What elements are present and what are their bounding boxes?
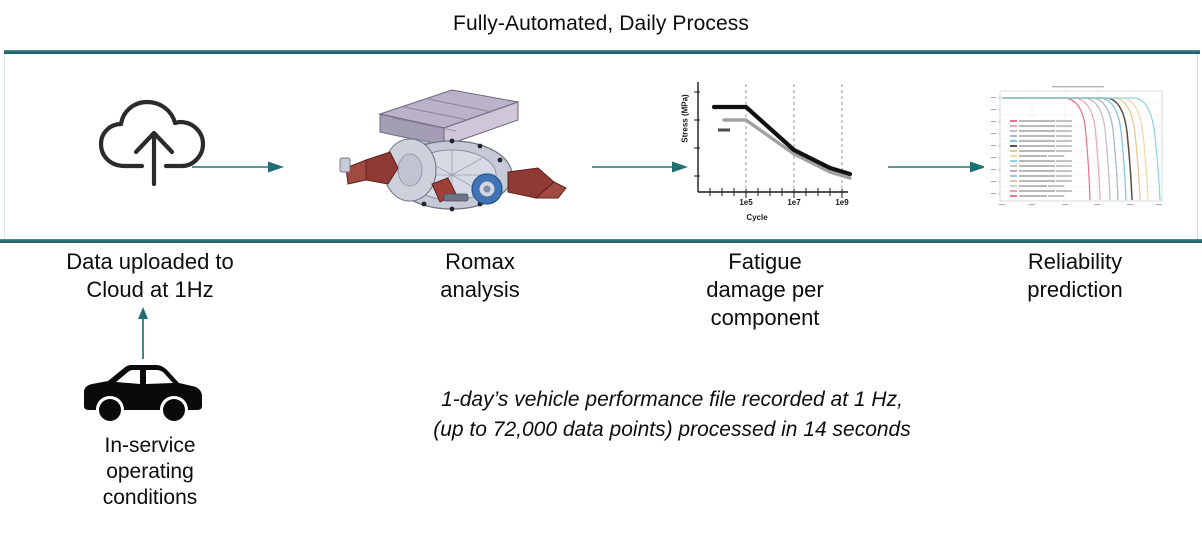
caption-fatigue-line3: component: [640, 304, 890, 332]
caption-fatigue-line2: damage per: [640, 276, 890, 304]
caption-fatigue-line1: Fatigue: [640, 248, 890, 276]
caption-fatigue: Fatigue damage per component: [640, 248, 890, 332]
gearbox-cad-image: [332, 72, 572, 222]
caption-upload-line1: Data uploaded to: [10, 248, 290, 276]
step-upload: [40, 54, 270, 239]
caption-reliability-line1: Reliability: [950, 248, 1200, 276]
car-icon: [78, 362, 206, 424]
divider-bottom: [0, 239, 1202, 243]
caption-source: In-service operating conditions: [30, 433, 270, 511]
footnote-line2: (up to 72,000 data points) processed in …: [322, 415, 1022, 445]
sn-curve-chart: Stress (MPa): [662, 72, 852, 222]
step-fatigue: Stress (MPa): [652, 54, 862, 239]
legend-item: [1010, 194, 1072, 199]
sn-xtick-2: 1e7: [787, 198, 800, 207]
sn-xtick-3: 1e9: [835, 198, 848, 207]
sn-curve-xlabel: Cycle: [662, 213, 852, 222]
reliability-legend: [1010, 119, 1072, 199]
page-title: Fully-Automated, Daily Process: [0, 12, 1202, 36]
caption-upload-line2: Cloud at 1Hz: [10, 276, 290, 304]
footnote-line1: 1-day’s vehicle performance file recorde…: [322, 385, 1022, 415]
cloud-upload-icon: [92, 96, 218, 197]
flow-arrow-car-to-cloud: [136, 307, 150, 359]
sn-curve-ylabel: Stress (MPa): [681, 73, 690, 163]
caption-reliability-line2: prediction: [950, 276, 1200, 304]
caption-analysis-line2: analysis: [355, 276, 605, 304]
step-reliability: [962, 54, 1192, 239]
sn-xtick-1: 1e5: [739, 198, 752, 207]
slide-canvas: Fully-Automated, Daily Process: [0, 0, 1202, 540]
flow-arrow-1: [192, 160, 284, 174]
caption-analysis: Romax analysis: [355, 248, 605, 304]
caption-analysis-line1: Romax: [355, 248, 605, 276]
caption-reliability: Reliability prediction: [950, 248, 1200, 304]
caption-source-line1: In-service: [30, 433, 270, 459]
step-analysis: [322, 54, 582, 239]
caption-source-line2: operating: [30, 459, 270, 485]
caption-source-line3: conditions: [30, 485, 270, 511]
footnote: 1-day’s vehicle performance file recorde…: [322, 385, 1022, 445]
caption-upload: Data uploaded to Cloud at 1Hz: [10, 248, 290, 304]
reliability-curves-chart: [984, 81, 1170, 213]
